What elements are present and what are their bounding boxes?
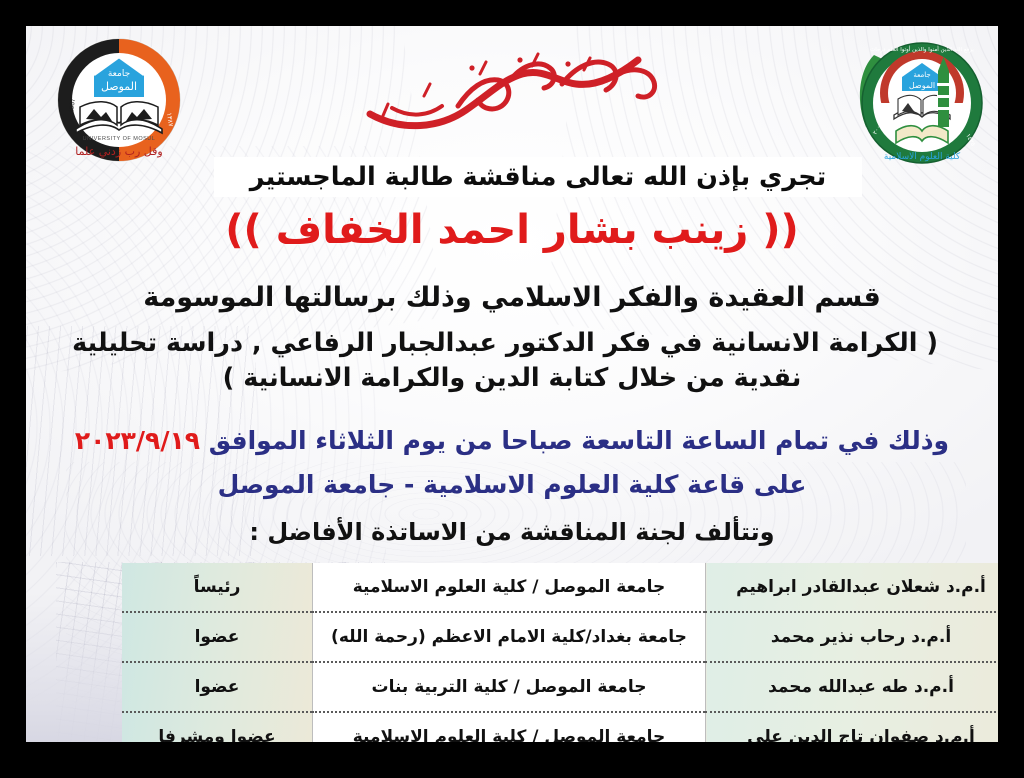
- venue-line: على قاعة كلية العلوم الاسلامية - جامعة ا…: [26, 470, 998, 499]
- committee-member-name: أ.م.د شعلان عبدالقادر ابراهيم: [706, 563, 999, 612]
- table-row: أ.م.د رحاب نذير محمد جامعة بغداد/كلية ال…: [122, 612, 998, 662]
- college-of-islamic-sciences-logo: جامعة الموصل كلية العلوم الاسلامية ٢٠٠٤ …: [852, 31, 984, 171]
- headline-text: تجري بإذن الله تعالى مناقشة طالبة الماجس…: [250, 162, 826, 192]
- svg-text:UNIVERSITY OF MOSUL: UNIVERSITY OF MOSUL: [83, 136, 156, 142]
- thesis-title: ( الكرامة الانسانية في فكر الدكتور عبدال…: [86, 326, 938, 396]
- student-name: (( زينب بشار احمد الخفاف )): [26, 207, 998, 253]
- committee-member-role: عضوا: [122, 612, 313, 662]
- table-row: أ.م.د شعلان عبدالقادر ابراهيم جامعة المو…: [122, 563, 998, 612]
- university-of-mosul-logo: جامعة الموصل UNIVERSITY OF MOSUL 1967 ١٣…: [54, 35, 184, 165]
- committee-intro: وتتألف لجنة المناقشة من الاساتذة الأفاضل…: [26, 518, 998, 546]
- committee-member-affiliation: جامعة بغداد/كلية الامام الاعظم (رحمة الل…: [313, 612, 706, 662]
- discussion-date: ٢٠٢٣/٩/١٩: [75, 426, 200, 455]
- poster-frame: جامعة الموصل UNIVERSITY OF MOSUL 1967 ١٣…: [0, 0, 1024, 778]
- committee-member-name: أ.م.د طه عبدالله محمد: [706, 662, 999, 712]
- svg-text:الموصل: الموصل: [909, 81, 935, 90]
- thesis-title-line-1: ( الكرامة الانسانية في فكر الدكتور عبدال…: [86, 326, 938, 361]
- committee-member-affiliation: جامعة الموصل / كلية العلوم الاسلامية: [313, 712, 706, 742]
- thesis-title-line-2: نقدية من خلال كتابة الدين والكرامة الانس…: [86, 361, 938, 396]
- poster-sheet: جامعة الموصل UNIVERSITY OF MOSUL 1967 ١٣…: [26, 26, 998, 742]
- datetime-prefix: وذلك في تمام الساعة التاسعة صباحا من يوم…: [209, 426, 949, 455]
- table-row: أ.م.د صفوان تاج الدين علي جامعة الموصل /…: [122, 712, 998, 742]
- committee-member-affiliation: جامعة الموصل / كلية العلوم الاسلامية: [313, 563, 706, 612]
- svg-text:كلية العلوم الاسلامية: كلية العلوم الاسلامية: [884, 152, 961, 162]
- table-row: أ.م.د طه عبدالله محمد جامعة الموصل / كلي…: [122, 662, 998, 712]
- department-line: قسم العقيدة والفكر الاسلامي وذلك برسالته…: [26, 282, 998, 313]
- committee-member-role: عضوا ومشرفا: [122, 712, 313, 742]
- datetime-line: وذلك في تمام الساعة التاسعة صباحا من يوم…: [26, 426, 998, 455]
- svg-text:الموصل: الموصل: [101, 80, 137, 93]
- svg-text:يرفع الله الذين آمنوا والذين أ: يرفع الله الذين آمنوا والذين أوتوا العلم…: [870, 45, 974, 53]
- committee-member-affiliation: جامعة الموصل / كلية التربية بنات: [313, 662, 706, 712]
- committee-table: أ.م.د شعلان عبدالقادر ابراهيم جامعة المو…: [122, 563, 998, 742]
- svg-text:جامعة: جامعة: [108, 69, 130, 79]
- committee-member-role: عضوا: [122, 662, 313, 712]
- svg-text:جامعة: جامعة: [913, 71, 930, 79]
- committee-member-name: أ.م.د صفوان تاج الدين علي: [706, 712, 999, 742]
- svg-text:وقل رب زدني علما: وقل رب زدني علما: [75, 145, 162, 158]
- committee-member-name: أ.م.د رحاب نذير محمد: [706, 612, 999, 662]
- committee-member-role: رئيساً: [122, 563, 313, 612]
- headline-band: تجري بإذن الله تعالى مناقشة طالبة الماجس…: [214, 157, 862, 197]
